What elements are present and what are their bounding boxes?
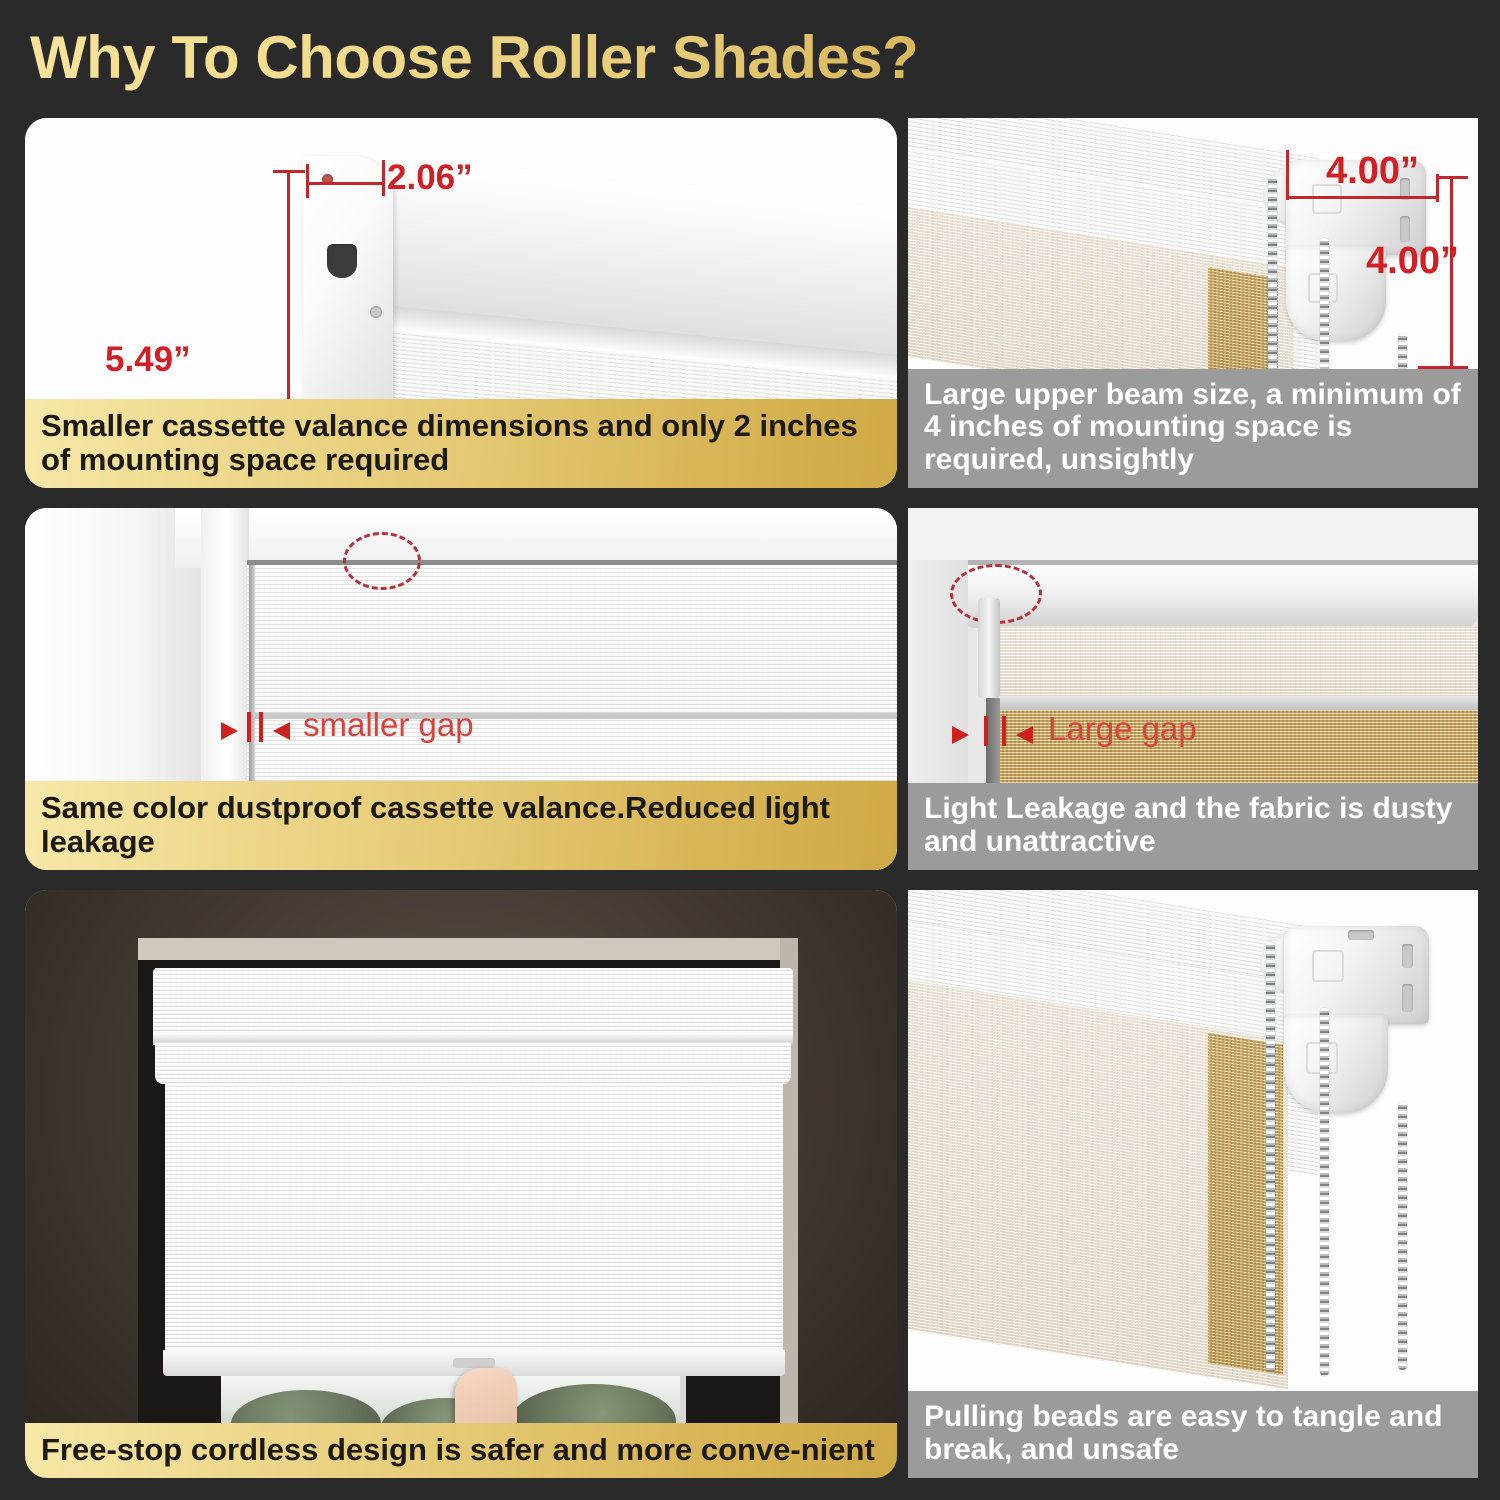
panel-3-caption: Same color dustproof cassette valance.Re… — [25, 781, 897, 870]
panel-cordless-design: Free-stop cordless design is safer and m… — [25, 890, 897, 1478]
gap-arrow-right — [273, 722, 290, 740]
large-gap-arrow-left — [952, 726, 969, 744]
panel-4-caption: Light Leakage and the fabric is dusty an… — [908, 783, 1478, 870]
bead-chain-left — [1266, 942, 1275, 1372]
beam-width-label: 4.00” — [1326, 150, 1419, 193]
gap-highlight-circle — [343, 532, 421, 590]
end-cap-mechanism-slot — [327, 244, 357, 278]
window-recess-top — [138, 938, 798, 960]
beam-width-line — [1286, 196, 1438, 199]
page-title: Why To Choose Roller Shades? — [30, 22, 1230, 94]
panel-pulling-beads: Pulling beads are easy to tangle and bre… — [908, 890, 1478, 1478]
height-dim-label: 5.49” — [105, 340, 191, 380]
pull-tab — [453, 1358, 495, 1368]
panel-5-photo — [25, 890, 897, 1478]
beam-height-label: 4.00” — [1366, 240, 1459, 283]
valance-header — [247, 563, 897, 718]
panel-6-caption: Pulling beads are easy to tangle and bre… — [908, 1391, 1478, 1478]
bead-chain-right — [1398, 1102, 1407, 1370]
gap-arrow-left — [221, 722, 238, 740]
gap-callout-label: smaller gap — [303, 706, 474, 744]
large-gap-label: Large gap — [1048, 710, 1197, 748]
width-dim-line — [306, 182, 384, 185]
bracket-emboss-upper-6 — [1312, 950, 1344, 982]
window-frame-top — [175, 508, 897, 568]
panel-large-beam: 4.00” 4.00” Large upper beam size, a min… — [908, 118, 1478, 488]
panel-light-leakage: Large gap Light Leakage and the fabric i… — [908, 508, 1478, 870]
gap-tick-2 — [259, 712, 263, 742]
end-cap-screw-mid — [370, 306, 382, 318]
panel-2-caption: Large upper beam size, a minimum of 4 in… — [908, 369, 1478, 488]
large-gap-tick-1 — [984, 716, 988, 746]
beam-height-tick-top — [1436, 176, 1468, 179]
cream-fabric-band — [996, 626, 1478, 698]
cassette-valance — [153, 968, 793, 1040]
bead-chain-middle — [1320, 1008, 1329, 1376]
bottom-rail — [993, 696, 1478, 710]
wall-top — [908, 508, 1478, 560]
gap-tick-1 — [247, 712, 251, 742]
width-dim-tick-left — [306, 164, 309, 198]
shade-panel — [165, 1084, 783, 1356]
panel-5-caption: Free-stop cordless design is safer and m… — [25, 1423, 897, 1478]
infographic-root: Why To Choose Roller Shades? 2.06” — [0, 0, 1500, 1500]
width-dim-tick-right — [382, 160, 385, 196]
bracket-slot-upper-6 — [1402, 944, 1413, 968]
bracket-slot-lower-6 — [1402, 984, 1413, 1012]
panel-dustproof-valance: smaller gap Same color dustproof cassett… — [25, 508, 897, 870]
large-gap-tick-2 — [1002, 716, 1006, 746]
panel-6-photo — [908, 890, 1478, 1478]
panel-1-caption: Smaller cassette valance dimensions and … — [25, 399, 897, 488]
width-dim-label: 2.06” — [387, 158, 473, 198]
bracket-slot-top-notch — [1348, 930, 1374, 940]
valance-lower-lip — [155, 1042, 791, 1084]
panel-smaller-cassette: 2.06” 5.49” Smaller cassette valance dim… — [25, 118, 897, 488]
height-dim-tick-top — [273, 170, 305, 173]
beam-width-tick-left — [1286, 150, 1289, 200]
head-rail-edge — [960, 560, 1478, 565]
side-bracket — [978, 598, 1000, 698]
bracket-slot-lower — [1400, 216, 1410, 242]
large-gap-arrow-right — [1016, 726, 1033, 744]
